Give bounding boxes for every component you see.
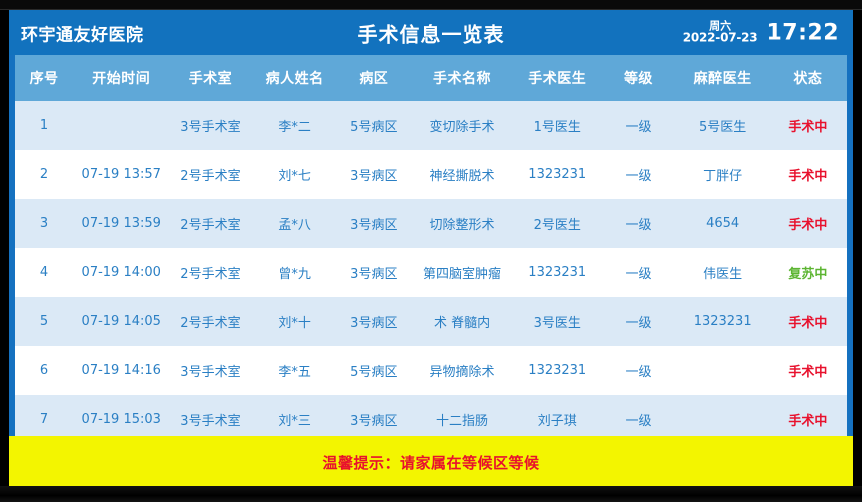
display-screen: 环宇通友好医院 手术信息一览表 周六 2022-07-23 17:22 序号 — [0, 0, 862, 502]
cell-operation-name: 异物摘除术 — [410, 346, 514, 395]
cell-status: 手术中 — [769, 101, 847, 150]
column-header-level: 等级 — [600, 55, 676, 101]
cell-start-time: 07-19 13:57 — [73, 150, 169, 199]
column-header-seq: 序号 — [15, 55, 73, 101]
column-header-anesthetist: 麻醉医生 — [677, 55, 769, 101]
cell-ward: 3号病区 — [338, 199, 410, 248]
cell-operation-name: 第四脑室肿瘤 — [410, 248, 514, 297]
cell-level: 一级 — [600, 150, 676, 199]
surgery-table: 序号 开始时间 手术室 病人姓名 病区 手术名称 手术医生 等级 麻醉医生 状态… — [15, 55, 847, 436]
cell-surgeon: 1323231 — [514, 150, 600, 199]
cell-anesthetist: 4654 — [677, 199, 769, 248]
table-row[interactable]: 607-19 14:163号手术室李*五5号病区异物摘除术1323231一级手术… — [15, 346, 847, 395]
cell-surgeon: 1号医生 — [514, 101, 600, 150]
table-row[interactable]: 707-19 15:033号手术室刘*三3号病区十二指肠刘子琪一级手术中 — [15, 395, 847, 436]
column-header-start-time: 开始时间 — [73, 55, 169, 101]
cell-status: 手术中 — [769, 150, 847, 199]
column-header-operation-name: 手术名称 — [410, 55, 514, 101]
column-header-surgeon: 手术医生 — [514, 55, 600, 101]
cell-ward: 3号病区 — [338, 395, 410, 436]
cell-status: 复苏中 — [769, 248, 847, 297]
title-bar: 环宇通友好医院 手术信息一览表 周六 2022-07-23 17:22 — [9, 10, 853, 55]
date-label: 2022-07-23 — [683, 32, 758, 45]
cell-level: 一级 — [600, 297, 676, 346]
clock-label: 17:22 — [766, 20, 839, 45]
cell-level: 一级 — [600, 199, 676, 248]
cell-anesthetist: 1323231 — [677, 297, 769, 346]
cell-start-time — [73, 101, 169, 150]
cell-level: 一级 — [600, 395, 676, 436]
monitor-bezel-top — [0, 0, 862, 10]
cell-seq: 7 — [15, 395, 73, 436]
date-block: 周六 2022-07-23 — [683, 20, 758, 44]
cell-ward: 5号病区 — [338, 101, 410, 150]
cell-surgeon: 刘子琪 — [514, 395, 600, 436]
cell-operating-room: 3号手术室 — [169, 101, 251, 150]
notice-text: 温馨提示：请家属在等候区等候 — [322, 452, 539, 473]
cell-ward: 3号病区 — [338, 248, 410, 297]
cell-patient-name: 李*五 — [252, 346, 338, 395]
cell-patient-name: 刘*十 — [252, 297, 338, 346]
cell-seq: 2 — [15, 150, 73, 199]
column-header-patient-name: 病人姓名 — [252, 55, 338, 101]
cell-seq: 6 — [15, 346, 73, 395]
cell-operating-room: 3号手术室 — [169, 395, 251, 436]
cell-ward: 5号病区 — [338, 346, 410, 395]
column-header-operating-room: 手术室 — [169, 55, 251, 101]
cell-start-time: 07-19 14:05 — [73, 297, 169, 346]
cell-operation-name: 神经撕脱术 — [410, 150, 514, 199]
table-body: 13号手术室李*二5号病区变切除手术1号医生一级5号医生手术中207-19 13… — [15, 101, 847, 436]
cell-surgeon: 1323231 — [514, 346, 600, 395]
surgery-board-panel: 环宇通友好医院 手术信息一览表 周六 2022-07-23 17:22 序号 — [9, 10, 853, 488]
cell-level: 一级 — [600, 248, 676, 297]
cell-operating-room: 2号手术室 — [169, 199, 251, 248]
cell-anesthetist: 5号医生 — [677, 101, 769, 150]
cell-anesthetist — [677, 395, 769, 436]
cell-surgeon: 1323231 — [514, 248, 600, 297]
cell-start-time: 07-19 15:03 — [73, 395, 169, 436]
cell-ward: 3号病区 — [338, 150, 410, 199]
cell-operating-room: 2号手术室 — [169, 150, 251, 199]
cell-start-time: 07-19 14:00 — [73, 248, 169, 297]
cell-status: 手术中 — [769, 297, 847, 346]
cell-anesthetist — [677, 346, 769, 395]
cell-start-time: 07-19 13:59 — [73, 199, 169, 248]
cell-anesthetist: 丁胖仔 — [677, 150, 769, 199]
surgery-table-container: 序号 开始时间 手术室 病人姓名 病区 手术名称 手术医生 等级 麻醉医生 状态… — [9, 55, 853, 436]
column-header-ward: 病区 — [338, 55, 410, 101]
cell-seq: 3 — [15, 199, 73, 248]
table-row[interactable]: 407-19 14:002号手术室曾*九3号病区第四脑室肿瘤1323231一级伟… — [15, 248, 847, 297]
table-row[interactable]: 307-19 13:592号手术室孟*八3号病区切除整形术2号医生一级4654手… — [15, 199, 847, 248]
cell-patient-name: 李*二 — [252, 101, 338, 150]
cell-patient-name: 孟*八 — [252, 199, 338, 248]
cell-operating-room: 2号手术室 — [169, 297, 251, 346]
cell-seq: 1 — [15, 101, 73, 150]
cell-start-time: 07-19 14:16 — [73, 346, 169, 395]
cell-surgeon: 2号医生 — [514, 199, 600, 248]
cell-ward: 3号病区 — [338, 297, 410, 346]
table-row[interactable]: 207-19 13:572号手术室刘*七3号病区神经撕脱术1323231一级丁胖… — [15, 150, 847, 199]
table-row[interactable]: 507-19 14:052号手术室刘*十3号病区术 脊髓内3号医生一级13232… — [15, 297, 847, 346]
table-header: 序号 开始时间 手术室 病人姓名 病区 手术名称 手术医生 等级 麻醉医生 状态 — [15, 55, 847, 101]
cell-patient-name: 刘*三 — [252, 395, 338, 436]
cell-status: 手术中 — [769, 395, 847, 436]
cell-status: 手术中 — [769, 346, 847, 395]
table-header-row: 序号 开始时间 手术室 病人姓名 病区 手术名称 手术医生 等级 麻醉医生 状态 — [15, 55, 847, 101]
cell-status: 手术中 — [769, 199, 847, 248]
cell-operation-name: 术 脊髓内 — [410, 297, 514, 346]
cell-operation-name: 变切除手术 — [410, 101, 514, 150]
cell-operation-name: 十二指肠 — [410, 395, 514, 436]
column-header-status: 状态 — [769, 55, 847, 101]
cell-operating-room: 2号手术室 — [169, 248, 251, 297]
notice-bar: 温馨提示：请家属在等候区等候 — [9, 436, 853, 488]
datetime-display: 周六 2022-07-23 17:22 — [683, 20, 839, 45]
cell-operating-room: 3号手术室 — [169, 346, 251, 395]
cell-operation-name: 切除整形术 — [410, 199, 514, 248]
table-row[interactable]: 13号手术室李*二5号病区变切除手术1号医生一级5号医生手术中 — [15, 101, 847, 150]
cell-seq: 5 — [15, 297, 73, 346]
monitor-bezel-bottom — [0, 486, 862, 502]
cell-surgeon: 3号医生 — [514, 297, 600, 346]
cell-level: 一级 — [600, 346, 676, 395]
cell-seq: 4 — [15, 248, 73, 297]
cell-anesthetist: 伟医生 — [677, 248, 769, 297]
cell-level: 一级 — [600, 101, 676, 150]
cell-patient-name: 刘*七 — [252, 150, 338, 199]
cell-patient-name: 曾*九 — [252, 248, 338, 297]
